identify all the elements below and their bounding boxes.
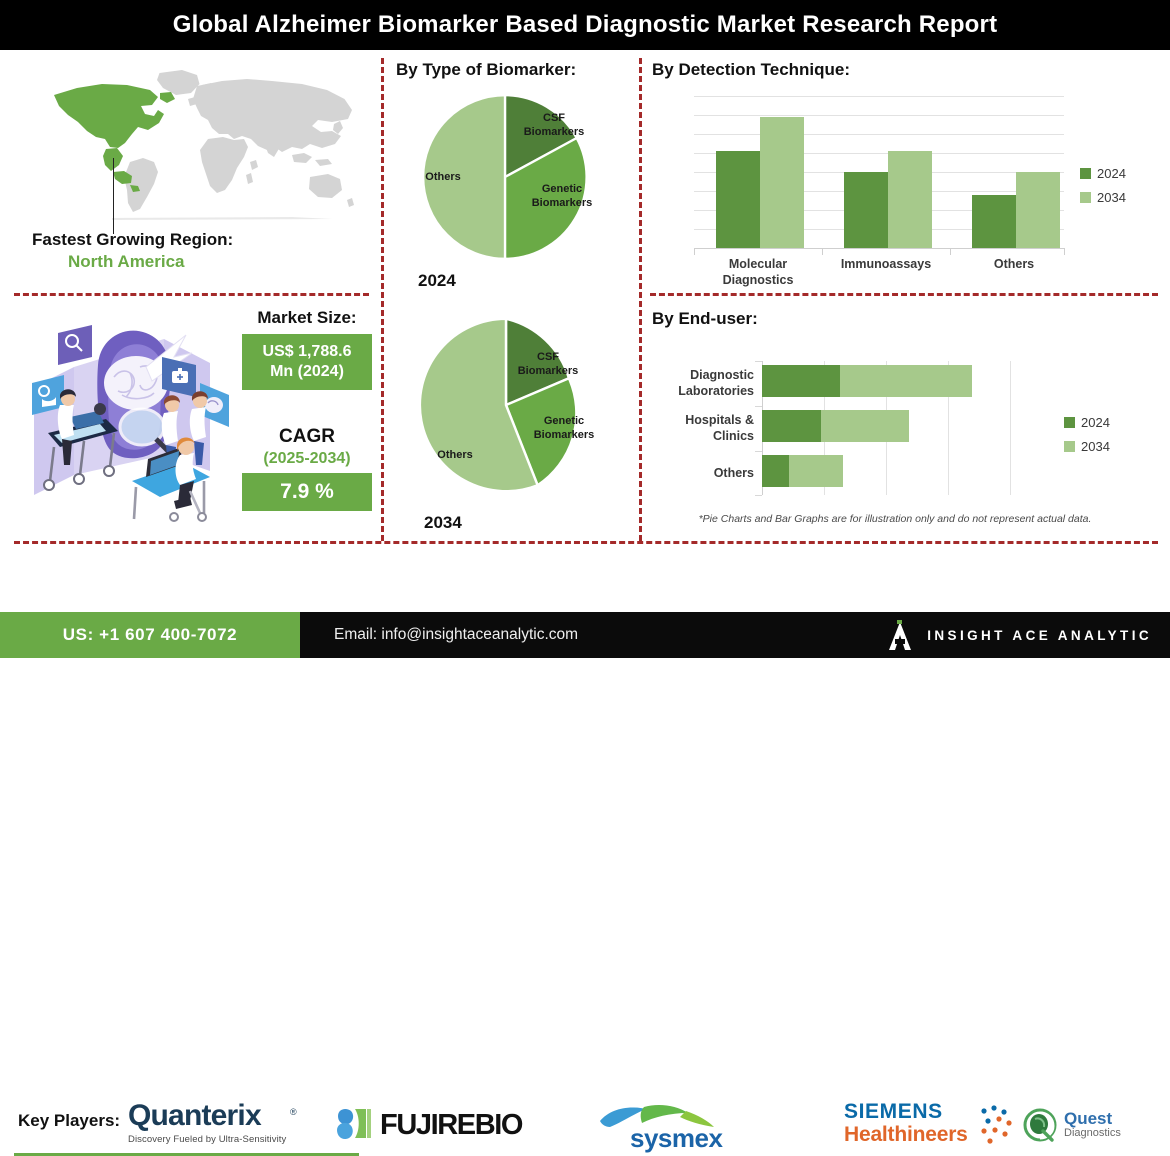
end-user-category-hospitals-clinics: Hospitals & Clinics — [654, 412, 754, 445]
gridline — [694, 115, 1064, 116]
end-user-title: By End-user: — [652, 309, 758, 329]
cagr-title: CAGR — [242, 426, 372, 448]
hbar-seg-2024 — [762, 455, 789, 487]
pie-chart-2034 — [408, 307, 604, 503]
footer-bar: US: +1 607 400-7072 Email: info@insighta… — [0, 612, 1170, 658]
hbar-others — [762, 455, 843, 487]
illustration-svg — [14, 305, 239, 540]
end-user-category-diagnostic-laboratories: Diagnostic Laboratories — [654, 367, 754, 400]
end-user-legend: 2024 2034 — [1064, 415, 1110, 463]
market-size-cagr-panel: Market Size: US$ 1,788.6 Mn (2024) CAGR … — [242, 308, 372, 511]
divider-vertical-right — [639, 58, 642, 541]
axis-tick — [822, 248, 823, 255]
fastest-region-value: North America — [68, 252, 185, 272]
axis-tick — [1064, 248, 1065, 255]
axis-tick — [755, 495, 762, 496]
medical-diagnostics-illustration — [14, 305, 239, 540]
hbar-seg-2024 — [762, 365, 840, 397]
pie-2034-year: 2034 — [424, 513, 462, 533]
biomarker-title: By Type of Biomarker: — [396, 60, 576, 80]
insight-ace-a-icon — [887, 620, 913, 650]
market-size-value-line1: US$ 1,788.6 — [246, 342, 368, 362]
detection-technique-panel: By Detection Technique: — [652, 58, 1158, 288]
detection-technique-title: By Detection Technique: — [652, 60, 850, 80]
quanterix-registered-mark: ® — [290, 1107, 297, 1117]
hbar-hospitals-clinics — [762, 410, 909, 442]
quanterix-tagline: Discovery Fueled by Ultra-Sensitivity — [128, 1134, 308, 1145]
x-axis-line — [694, 248, 1064, 249]
siemens-healthineers-logo: SIEMENS Healthineers — [844, 1101, 1034, 1149]
quest-diagnostics-wordmark: Diagnostics — [1064, 1127, 1121, 1140]
key-players-band: Key Players: Quanterix Discovery Fueled … — [0, 545, 1170, 612]
divider-vertical-left — [381, 58, 384, 541]
legend-swatch-2034 — [1064, 441, 1075, 452]
axis-tick — [755, 406, 762, 407]
hbar-seg-2034 — [789, 455, 843, 487]
axis-tick — [950, 248, 951, 255]
bar-others-2024 — [972, 195, 1016, 248]
detection-plot-area — [694, 96, 1064, 248]
end-user-panel: By End-user: — [652, 305, 1158, 537]
key-players-label: Key Players: — [18, 1111, 120, 1131]
bar-molecular-2034 — [760, 117, 804, 248]
header-bar: Global Alzheimer Biomarker Based Diagnos… — [0, 0, 1170, 50]
pie-chart-2024 — [412, 84, 598, 270]
detection-category-others: Others — [950, 256, 1078, 272]
footer-brand: INSIGHT ACE ANALYTIC — [887, 612, 1152, 658]
fastest-region-label: Fastest Growing Region: — [32, 230, 233, 250]
cagr-years: (2025-2034) — [242, 450, 372, 468]
quest-mark-icon — [1022, 1107, 1058, 1143]
quest-wordmark: Quest — [1064, 1110, 1121, 1127]
legend-label-2034: 2034 — [1081, 439, 1110, 454]
end-user-category-others: Others — [654, 465, 754, 481]
bar-molecular-2024 — [716, 151, 760, 248]
divider-horizontal-left — [14, 293, 369, 296]
fastest-growing-region-panel: Fastest Growing Region: North America — [14, 58, 369, 288]
biomarker-panel-2034: CSF Biomarkers Genetic Biomarkers Others… — [396, 305, 632, 535]
detection-category-immunoassays: Immunoassays — [822, 256, 950, 272]
fujirebio-logo: FUJIREBIO — [334, 1105, 564, 1145]
quanterix-logo: Quanterix Discovery Fueled by Ultra-Sens… — [128, 1101, 308, 1149]
hbar-seg-2024 — [762, 410, 821, 442]
legend-swatch-2024 — [1064, 417, 1075, 428]
biomarker-panel-2024: By Type of Biomarker: CSF Biomarkers Gen… — [396, 58, 632, 293]
legend-swatch-2024 — [1080, 168, 1091, 179]
market-size-title: Market Size: — [242, 308, 372, 328]
cagr-value: 7.9 % — [242, 473, 372, 511]
infographic-page: Global Alzheimer Biomarker Based Diagnos… — [0, 0, 1170, 658]
fujirebio-wordmark: FUJIREBIO — [380, 1109, 522, 1142]
legend-item-2034: 2034 — [1080, 190, 1126, 205]
fujirebio-mark-icon — [334, 1106, 374, 1144]
legend-label-2024: 2024 — [1097, 166, 1126, 181]
divider-horizontal-bottom — [14, 541, 1158, 544]
divider-horizontal-right — [650, 293, 1158, 296]
gridline — [1010, 361, 1011, 495]
quanterix-wordmark: Quanterix — [128, 1101, 308, 1131]
sysmex-wordmark: sysmex — [630, 1123, 722, 1154]
charts-footnote: *Pie Charts and Bar Graphs are for illus… — [660, 513, 1130, 525]
end-user-plot-area — [762, 361, 1010, 495]
legend-label-2034: 2034 — [1097, 190, 1126, 205]
axis-tick — [755, 361, 762, 362]
hbar-seg-2034 — [840, 365, 972, 397]
footer-email[interactable]: Email: info@insightaceanalytic.com — [334, 626, 578, 644]
detection-category-molecular: Molecular Diagnostics — [694, 256, 822, 289]
quest-diagnostics-logo: Quest Diagnostics — [1022, 1103, 1162, 1147]
axis-tick — [755, 451, 762, 452]
legend-label-2024: 2024 — [1081, 415, 1110, 430]
map-pointer-line — [113, 158, 114, 234]
gridline — [694, 96, 1064, 97]
market-size-value: US$ 1,788.6 Mn (2024) — [242, 334, 372, 390]
hbar-diagnostic-laboratories — [762, 365, 972, 397]
brand-a-svg — [887, 620, 913, 652]
footer-brand-text: INSIGHT ACE ANALYTIC — [927, 628, 1152, 643]
page-title: Global Alzheimer Biomarker Based Diagnos… — [173, 11, 998, 39]
bar-immunoassays-2034 — [888, 151, 932, 248]
sysmex-logo: sysmex — [596, 1103, 756, 1149]
footer-phone[interactable]: US: +1 607 400-7072 — [0, 612, 300, 658]
legend-item-2024: 2024 — [1064, 415, 1110, 430]
axis-tick — [694, 248, 695, 255]
legend-item-2024: 2024 — [1080, 166, 1126, 181]
bar-others-2034 — [1016, 172, 1060, 248]
legend-item-2034: 2034 — [1064, 439, 1110, 454]
market-size-value-line2: Mn (2024) — [246, 362, 368, 382]
world-map-svg — [32, 64, 362, 224]
hbar-seg-2034 — [821, 410, 909, 442]
bar-immunoassays-2024 — [844, 172, 888, 248]
legend-swatch-2034 — [1080, 192, 1091, 203]
gridline — [694, 134, 1064, 135]
world-map-icon — [32, 64, 362, 224]
pie-2024-year: 2024 — [418, 271, 456, 291]
detection-legend: 2024 2034 — [1080, 166, 1126, 214]
